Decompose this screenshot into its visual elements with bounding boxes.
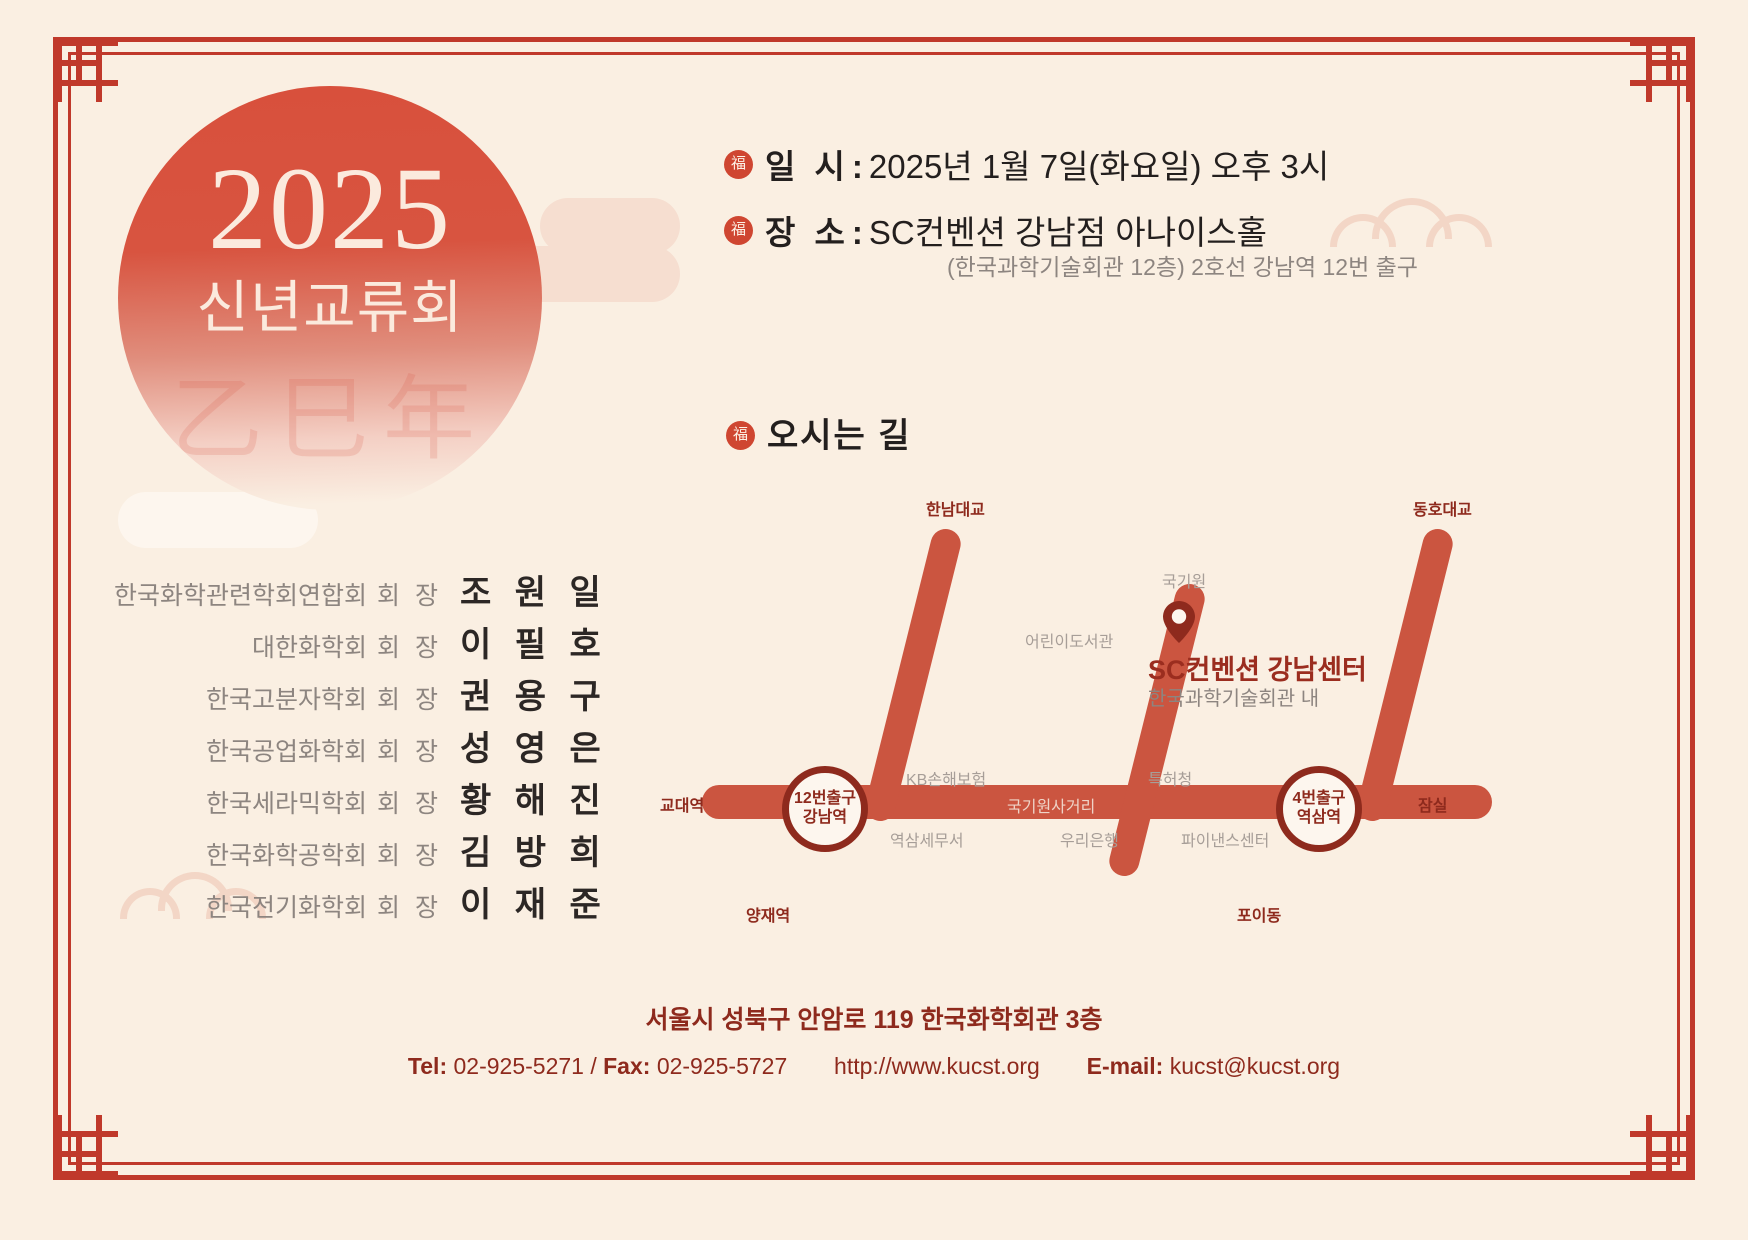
- corner-ornament-bottom-right: [1630, 1115, 1692, 1177]
- officer-org: 한국고분자학회: [206, 680, 367, 716]
- footer-contact-line: Tel: 02-925-5271 / Fax: 02-925-5727 http…: [0, 1053, 1748, 1080]
- map-label-jamsil: 잠실: [1418, 792, 1447, 816]
- road-diagonal-dongho: [1354, 526, 1456, 824]
- officer-position: 회 장: [377, 732, 442, 768]
- route-heading-block: 福 오시는 길: [726, 408, 912, 457]
- route-heading-text: 오시는 길: [767, 408, 912, 457]
- station-yeoksam[interactable]: 4번출구 역삼역: [1276, 766, 1362, 852]
- detail-value-venue: SC컨벤션 강남점 아나이스홀: [869, 206, 1267, 254]
- footer-tel-label: Tel:: [408, 1053, 447, 1079]
- map-label-poidong: 포이동: [1237, 902, 1281, 926]
- detail-subvalue-venue: (한국과학기술회관 12층) 2호선 강남역 12번 출구: [947, 248, 1418, 282]
- footer-email-value[interactable]: kucst@kucst.org: [1170, 1053, 1340, 1079]
- fortune-icon: 福: [726, 421, 755, 450]
- fortune-icon: 福: [724, 150, 753, 179]
- detail-colon-datetime: :: [852, 148, 863, 186]
- map-label-patent-office: 특허청: [1148, 766, 1192, 790]
- map-label-dongho-bridge: 동호대교: [1413, 496, 1472, 520]
- officer-name: 조 원 일: [460, 565, 590, 614]
- corner-ornament-bottom-left: [56, 1115, 118, 1177]
- map-label-gukgiwon: 국기원: [1162, 568, 1206, 592]
- officer-name: 성 영 은: [460, 721, 590, 770]
- hero-subtitle: 신년교류회: [118, 262, 542, 344]
- officer-name: 황 해 진: [460, 773, 590, 822]
- detail-value-datetime: 2025년 1월 7일(화요일) 오후 3시: [869, 140, 1329, 188]
- footer-email-label: E-mail:: [1087, 1053, 1164, 1079]
- station-name-label: 강남역: [803, 809, 847, 828]
- map-label-finance-center: 파이낸스센터: [1181, 827, 1269, 851]
- hero-year: 2025: [118, 150, 542, 268]
- footer-fax-label: Fax:: [603, 1053, 650, 1079]
- officer-org: 한국세라믹학회: [206, 784, 367, 820]
- map-label-gyodae-station: 교대역: [660, 792, 704, 816]
- map-label-childrens-library: 어린이도서관: [1025, 628, 1113, 652]
- location-map: 12번출구 강남역 4번출구 역삼역 한남대교 동호대교 교대역 양재역 잠실 …: [640, 480, 1520, 930]
- officer-org: 한국화학관련학회연합회: [114, 576, 367, 612]
- officer-position: 회 장: [377, 680, 442, 716]
- footer-website[interactable]: http://www.kucst.org: [834, 1053, 1040, 1079]
- map-label-gukgiwon-intersection: 국기원사거리: [1007, 793, 1095, 817]
- detail-row-datetime: 福 일 시 : 2025년 1월 7일(화요일) 오후 3시: [724, 140, 1564, 188]
- detail-row-venue: 福 장 소 : SC컨벤션 강남점 아나이스홀 (한국과학기술회관 12층) 2…: [724, 206, 1564, 282]
- corner-ornament-top-right: [1630, 40, 1692, 102]
- detail-label-venue: 장 소: [765, 206, 850, 254]
- footer-tel-value: 02-925-5271: [454, 1053, 584, 1079]
- list-item: 한국화학관련학회연합회 회 장 조 원 일: [120, 565, 590, 613]
- footer-fax-value: 02-925-5727: [657, 1053, 787, 1079]
- map-label-kb-insurance: KB손해보험: [906, 766, 986, 790]
- map-pin-icon: [1162, 600, 1196, 649]
- hero-watermark: 乙巳年: [118, 345, 542, 478]
- event-details: 福 일 시 : 2025년 1월 7일(화요일) 오후 3시 福 장 소 : S…: [724, 140, 1564, 300]
- footer: 서울시 성북구 안암로 119 한국화학회관 3층 Tel: 02-925-52…: [0, 1000, 1748, 1080]
- list-item: 한국공업화학회 회 장 성 영 은: [120, 721, 590, 769]
- station-name-label: 역삼역: [1297, 809, 1341, 828]
- officer-org: 한국전기화학회: [206, 888, 367, 924]
- list-item: 한국고분자학회 회 장 권 용 구: [120, 669, 590, 717]
- officer-name: 이 재 준: [460, 877, 590, 926]
- map-label-yeoksam-tax-office: 역삼세무서: [890, 827, 964, 851]
- list-item: 한국전기화학회 회 장 이 재 준: [120, 877, 590, 925]
- officer-org: 한국화학공학회: [206, 836, 367, 872]
- poster-root: 乙巳年 2025 신년교류회 福 일 시 : 2025년 1월 7일(화요일) …: [0, 0, 1748, 1240]
- officers-list: 한국화학관련학회연합회 회 장 조 원 일 대한화학회 회 장 이 필 호 한국…: [120, 565, 590, 929]
- officer-position: 회 장: [377, 784, 442, 820]
- footer-separator: /: [590, 1053, 596, 1079]
- map-label-yangjae-station: 양재역: [746, 902, 790, 926]
- station-exit-label: 4번출구: [1292, 790, 1345, 809]
- map-label-hannam-bridge: 한남대교: [926, 496, 985, 520]
- station-exit-label: 12번출구: [794, 790, 856, 809]
- officer-position: 회 장: [377, 628, 442, 664]
- footer-address: 서울시 성북구 안암로 119 한국화학회관 3층: [0, 1000, 1748, 1036]
- detail-colon-venue: :: [852, 214, 863, 252]
- list-item: 한국화학공학회 회 장 김 방 희: [120, 825, 590, 873]
- officer-name: 김 방 희: [460, 825, 590, 874]
- officer-org: 한국공업화학회: [206, 732, 367, 768]
- officer-name: 이 필 호: [460, 617, 590, 666]
- officer-position: 회 장: [377, 836, 442, 872]
- list-item: 대한화학회 회 장 이 필 호: [120, 617, 590, 665]
- list-item: 한국세라믹학회 회 장 황 해 진: [120, 773, 590, 821]
- fortune-icon: 福: [724, 216, 753, 245]
- officer-position: 회 장: [377, 576, 442, 612]
- officer-org: 대한화학회: [252, 628, 367, 664]
- map-label-woori-bank: 우리은행: [1060, 827, 1119, 851]
- officer-name: 권 용 구: [460, 669, 590, 718]
- corner-ornament-top-left: [56, 40, 118, 102]
- detail-label-datetime: 일 시: [765, 140, 850, 188]
- map-destination-subtitle: 한국과학기술회관 내: [1148, 682, 1319, 711]
- officer-position: 회 장: [377, 888, 442, 924]
- station-gangnam[interactable]: 12번출구 강남역: [782, 766, 868, 852]
